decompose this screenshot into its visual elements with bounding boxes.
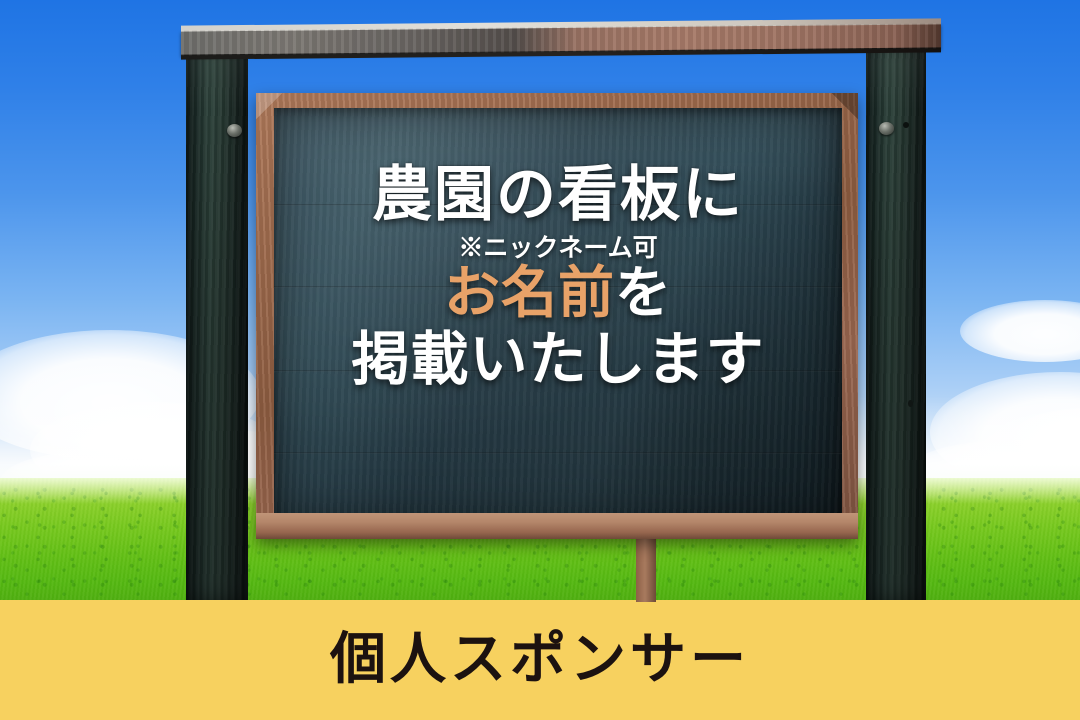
nail-icon-right-top <box>903 122 909 128</box>
sign-post-right <box>866 44 926 602</box>
wooden-sign: 農園の看板に ※ニックネーム可 お名前を 掲載いたします <box>0 0 1080 602</box>
bolt-head-icon-right <box>879 122 894 135</box>
scene-root: 農園の看板に ※ニックネーム可 お名前を 掲載いたします 個人スポンサー <box>0 0 1080 720</box>
banner-title: 個人スポンサー <box>330 632 750 688</box>
bottom-banner: 個人スポンサー <box>0 600 1080 720</box>
board-texture <box>274 108 842 524</box>
board-plank-seam-2 <box>274 286 842 288</box>
bolt-head-icon-left <box>227 124 242 137</box>
board-plank-seam-3 <box>274 370 842 372</box>
sign-board-bottom-rail <box>256 513 858 539</box>
nail-icon-right-mid <box>908 400 913 407</box>
sign-top-beam <box>181 23 941 55</box>
board-plank-seam-4 <box>274 452 842 454</box>
board-plank-seam-1 <box>274 204 842 206</box>
sign-board-panel <box>274 108 842 524</box>
sign-center-leg <box>636 530 656 602</box>
